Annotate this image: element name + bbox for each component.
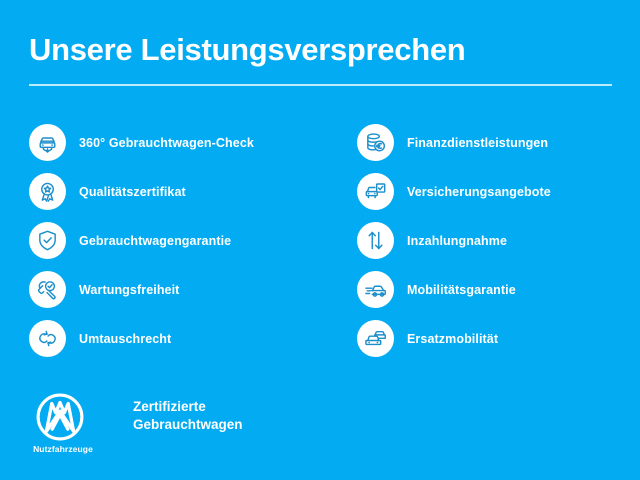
feature-label: 360° Gebrauchtwagen-Check bbox=[79, 136, 254, 150]
brand-claim-line1: Zertifizierte bbox=[133, 398, 243, 416]
brand-sub-label: Nutzfahrzeuge bbox=[29, 444, 97, 454]
feature-label: Mobilitätsgarantie bbox=[407, 283, 516, 297]
feature-item-insurance-offers[interactable]: Versicherungsangebote bbox=[357, 167, 640, 216]
feature-label: Inzahlungnahme bbox=[407, 234, 507, 248]
feature-label: Qualitätszertifikat bbox=[79, 185, 186, 199]
feature-item-warranty[interactable]: Gebrauchtwagengarantie bbox=[29, 216, 319, 265]
award-rosette-icon bbox=[29, 173, 66, 210]
feature-label: Ersatzmobilität bbox=[407, 332, 498, 346]
feature-item-replacement-mobility[interactable]: Ersatzmobilität bbox=[357, 314, 640, 363]
feature-item-trade-in[interactable]: Inzahlungnahme bbox=[357, 216, 640, 265]
feature-item-360-check[interactable]: 360° Gebrauchtwagen-Check bbox=[29, 118, 319, 167]
page-title: Unsere Leistungsversprechen bbox=[29, 31, 465, 69]
car-checklist-icon bbox=[357, 173, 394, 210]
feature-column-right: Finanzdienstleistungen Versicheru bbox=[357, 118, 640, 363]
promo-banner: Unsere Leistungsversprechen 360° Ge bbox=[0, 0, 640, 480]
feature-item-exchange-right[interactable]: Umtauschrecht bbox=[29, 314, 319, 363]
brand-claim-line2: Gebrauchtwagen bbox=[133, 416, 243, 434]
feature-column-left: 360° Gebrauchtwagen-Check Qualitätszerti… bbox=[29, 118, 319, 363]
volkswagen-logo bbox=[35, 392, 85, 442]
feature-label: Finanzdienstleistungen bbox=[407, 136, 548, 150]
feature-label: Wartungsfreiheit bbox=[79, 283, 179, 297]
feature-item-maintenance-free[interactable]: Wartungsfreiheit bbox=[29, 265, 319, 314]
brand-claim: Zertifizierte Gebrauchtwagen bbox=[133, 398, 243, 434]
title-divider bbox=[29, 84, 612, 86]
car-motion-icon bbox=[357, 271, 394, 308]
exchange-arrows-icon bbox=[29, 320, 66, 357]
feature-label: Umtauschrecht bbox=[79, 332, 171, 346]
feature-item-financial-services[interactable]: Finanzdienstleistungen bbox=[357, 118, 640, 167]
up-down-arrows-icon bbox=[357, 222, 394, 259]
two-cars-icon bbox=[357, 320, 394, 357]
wrench-check-icon bbox=[29, 271, 66, 308]
feature-label: Versicherungsangebote bbox=[407, 185, 551, 199]
shield-check-icon bbox=[29, 222, 66, 259]
brand-footer: Nutzfahrzeuge Zertifizierte Gebrauchtwag… bbox=[29, 392, 243, 464]
feature-item-quality-certificate[interactable]: Qualitätszertifikat bbox=[29, 167, 319, 216]
car-inspection-icon bbox=[29, 124, 66, 161]
brand-mark: Nutzfahrzeuge bbox=[29, 392, 97, 464]
feature-label: Gebrauchtwagengarantie bbox=[79, 234, 231, 248]
coins-euro-icon bbox=[357, 124, 394, 161]
feature-item-mobility-guarantee[interactable]: Mobilitätsgarantie bbox=[357, 265, 640, 314]
feature-list: 360° Gebrauchtwagen-Check Qualitätszerti… bbox=[0, 118, 640, 370]
